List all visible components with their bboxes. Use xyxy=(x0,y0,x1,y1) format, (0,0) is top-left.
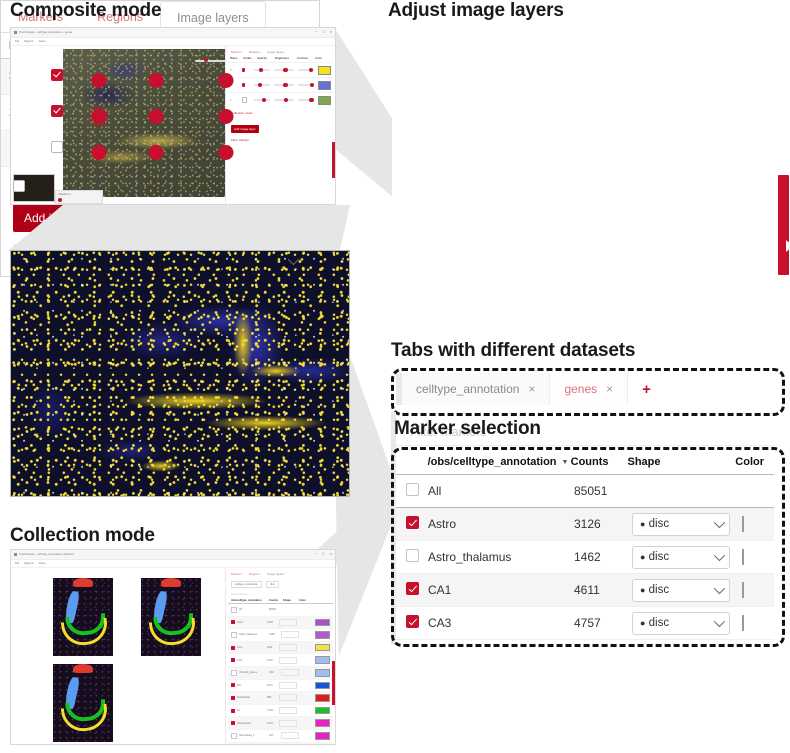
row-counts: 4611 xyxy=(574,583,632,597)
th-color: Color xyxy=(315,57,322,60)
row-shape-cell[interactable]: ● disc xyxy=(632,579,742,602)
row-counts: 986 xyxy=(267,696,279,699)
thumb-marker-size-slider[interactable] xyxy=(195,60,225,62)
color-swatch[interactable] xyxy=(315,656,330,664)
row-checkbox[interactable] xyxy=(231,607,237,613)
tile-red-region xyxy=(73,664,93,673)
col-color: Color xyxy=(735,456,764,468)
thumb-collection-mode-label[interactable]: Collection mode xyxy=(228,107,333,117)
table-row[interactable]: CA3 4757 ● disc xyxy=(396,607,774,640)
row-shape[interactable] xyxy=(279,720,297,727)
row-counts: 320 xyxy=(269,671,281,674)
panel-scrollbar[interactable] xyxy=(778,175,789,275)
row-counts: 1201 xyxy=(267,722,279,725)
table-row[interactable]: Astro 3126 ● disc xyxy=(396,508,774,541)
tile-yellow-region xyxy=(61,618,109,648)
collection-side-panel: Markers Regions Image layers celltype_an… xyxy=(225,568,335,745)
row-checkbox-cell[interactable] xyxy=(406,582,428,598)
add-tab-button[interactable]: + xyxy=(628,373,665,405)
shape-label: disc xyxy=(649,617,669,629)
dataset-tabs-strip: celltype_annotation × genes × + xyxy=(396,373,774,405)
close-icon[interactable]: × xyxy=(330,30,332,34)
row-checkbox[interactable] xyxy=(406,549,419,562)
row-shape[interactable] xyxy=(279,682,297,689)
row-name: CA1 xyxy=(428,583,574,597)
table-row[interactable]: DG5172 xyxy=(228,680,333,693)
tile-red-region xyxy=(161,578,181,587)
table-row[interactable]: All85051 xyxy=(228,604,333,617)
thumb-window-title: TissUUmaps - celltype_annotation collect… xyxy=(19,553,74,556)
collection-viewer-canvas[interactable] xyxy=(11,568,225,745)
table-row[interactable]: Astro_thalamus1462 xyxy=(228,629,333,642)
shape-label: disc xyxy=(649,551,669,563)
celltype-dropdown[interactable]: celltype_annotation xyxy=(231,581,262,588)
thumb-marker-size: Marker size: 100 xyxy=(195,52,225,62)
shape-dropdown[interactable]: disc xyxy=(266,581,279,588)
row-brightness-slider[interactable] xyxy=(274,69,294,70)
shape-value: ● disc xyxy=(640,518,669,530)
row-checkbox[interactable] xyxy=(231,709,235,713)
row-color-swatch[interactable] xyxy=(318,66,331,75)
chevron-down-icon[interactable] xyxy=(714,583,725,594)
app-icon xyxy=(14,31,17,34)
row-checkbox[interactable] xyxy=(231,670,237,676)
menu-file[interactable]: File xyxy=(15,562,19,565)
disc-icon: ● xyxy=(640,519,645,529)
collection-dropdown-row[interactable]: celltype_annotation disc xyxy=(228,579,333,590)
table-row[interactable]: All 85051 xyxy=(396,475,774,508)
row-checkbox-cell[interactable] xyxy=(406,483,428,499)
section-title-collection-mode: Collection mode xyxy=(10,525,155,547)
micro-white-dots xyxy=(11,251,349,496)
tab-markers[interactable]: Markers xyxy=(231,572,242,576)
row-shape[interactable] xyxy=(279,657,297,664)
row-brightness-slider[interactable] xyxy=(274,84,294,85)
table-row[interactable]: CA34757 xyxy=(228,654,333,667)
row-opacity-slider[interactable] xyxy=(254,69,270,70)
th-brightness: Brightness xyxy=(275,57,297,60)
table-row[interactable]: Astro3126 xyxy=(228,617,333,630)
row-checkbox-cell[interactable] xyxy=(406,549,428,565)
row-counts: 85051 xyxy=(269,608,281,611)
marker-table-header: /obs/celltype_annotation ▼ Counts Shape … xyxy=(396,450,774,475)
shape-value: ● disc xyxy=(640,551,669,563)
col-celltype-label: /obs/celltype_annotation xyxy=(428,456,557,468)
row-opacity-slider[interactable] xyxy=(254,99,270,100)
zoomed-microscopy-image[interactable] xyxy=(10,250,350,497)
row-color-cell[interactable] xyxy=(742,616,764,630)
row-brightness-slider[interactable] xyxy=(274,99,294,100)
color-swatch[interactable] xyxy=(315,631,330,639)
table-row[interactable]: CA1 4611 ● disc xyxy=(396,574,774,607)
thumb-window-title: TissUUmaps - celltype_annotation + genes xyxy=(19,31,72,34)
row-shape-cell[interactable]: ● disc xyxy=(632,612,742,635)
dataset-tab-genes[interactable]: genes × xyxy=(550,373,628,405)
thumb-title-bar: TissUUmaps - celltype_annotation collect… xyxy=(11,550,335,560)
thumb-channel-swatch[interactable] xyxy=(58,198,62,202)
table-row[interactable]: 1 xyxy=(228,92,333,107)
table-row[interactable]: Ex1716 xyxy=(228,705,333,718)
collection-tile-3[interactable] xyxy=(53,664,113,742)
collection-tile-1[interactable] xyxy=(53,578,113,656)
panel-collapse-arrow-icon[interactable] xyxy=(786,240,790,252)
row-checkbox-cell[interactable] xyxy=(406,516,428,532)
row-name: Neuroblast_1 xyxy=(239,734,269,737)
menu-about[interactable]: About xyxy=(39,562,46,565)
menu-regions[interactable]: Regions xyxy=(24,562,34,565)
table-row[interactable]: Astro_thalamus 1462 ● disc xyxy=(396,541,774,574)
shape-select[interactable]: ● disc xyxy=(632,612,730,635)
col-shape: Shape xyxy=(627,456,735,468)
row-checkbox-cell[interactable] xyxy=(406,615,428,631)
tab-image-layers[interactable]: Image layers xyxy=(267,572,284,576)
tile-yellow-region xyxy=(149,618,197,648)
table-row[interactable]: Choroid_plexus320 xyxy=(228,667,333,680)
disc-icon: ● xyxy=(640,618,645,628)
color-swatch[interactable] xyxy=(315,732,330,740)
collection-tile-2[interactable] xyxy=(141,578,201,656)
row-visible-checkbox[interactable] xyxy=(242,97,255,102)
row-checkbox[interactable] xyxy=(231,658,235,662)
thumb-tissue-image xyxy=(63,49,225,197)
micro-layer-stack xyxy=(11,251,349,496)
section-title-marker-selection: Marker selection xyxy=(394,418,541,440)
row-name: CA1 xyxy=(237,646,267,649)
row-checkbox[interactable] xyxy=(406,483,419,496)
close-icon[interactable]: × xyxy=(606,382,613,396)
collection-table-rows: All85051Astro3126Astro_thalamus1462CA146… xyxy=(228,604,333,745)
disc-icon: ● xyxy=(640,552,645,562)
dataset-tab-label: genes xyxy=(564,382,597,396)
menu-file[interactable]: File xyxy=(15,40,19,43)
dataset-tab-celltype-annotation[interactable]: celltype_annotation × xyxy=(402,373,550,405)
row-name: Astro xyxy=(428,517,574,531)
thumb-tab-markers[interactable]: Markers xyxy=(231,50,242,54)
disc-icon: ● xyxy=(640,585,645,595)
window-controls[interactable]: − □ × xyxy=(315,552,332,556)
row-visible-checkbox[interactable] xyxy=(242,83,255,86)
row-counts: 427 xyxy=(269,734,281,737)
row-name: 3 xyxy=(230,69,242,72)
thumb-side-panel: Markers Regions Image layers Name Visibl… xyxy=(225,46,335,205)
maximize-icon[interactable]: □ xyxy=(322,30,324,34)
row-counts: 85051 xyxy=(574,484,632,498)
thumb-channel-label: Channel 1 xyxy=(58,192,71,196)
tab-regions[interactable]: Regions xyxy=(249,572,260,576)
row-counts: 3126 xyxy=(267,621,279,624)
visible-checkbox[interactable] xyxy=(51,141,63,153)
row-counts: 3126 xyxy=(574,517,632,531)
marker-selection-panel: Filter markers /obs/celltype_annotation … xyxy=(391,412,779,644)
row-name: 1 xyxy=(230,99,242,102)
row-counts: 1462 xyxy=(269,633,281,636)
table-row[interactable]: Oligodendro1201 xyxy=(228,717,333,730)
table-row[interactable]: 2 xyxy=(228,77,333,92)
row-name: All xyxy=(239,608,269,611)
chevron-down-icon[interactable] xyxy=(714,550,725,561)
shape-label: disc xyxy=(649,518,669,530)
row-checkbox[interactable] xyxy=(406,615,419,628)
marker-table: /obs/celltype_annotation ▼ Counts Shape … xyxy=(396,450,774,640)
shape-select[interactable]: ● disc xyxy=(632,513,730,536)
row-contrast-slider[interactable] xyxy=(298,84,314,85)
tile-yellow-region xyxy=(61,704,109,734)
row-name: Astro xyxy=(237,621,267,624)
shape-value: ● disc xyxy=(640,617,669,629)
color-swatch[interactable] xyxy=(315,694,330,702)
minimize-icon[interactable]: − xyxy=(315,552,317,556)
row-opacity-slider[interactable] xyxy=(254,84,270,85)
row-shape[interactable] xyxy=(281,631,299,638)
row-shape[interactable] xyxy=(279,707,297,714)
visible-checkbox[interactable] xyxy=(51,105,63,117)
row-shape[interactable] xyxy=(279,619,297,626)
col-color: Color xyxy=(299,599,306,602)
row-name: Endothelial xyxy=(237,696,267,699)
row-shape xyxy=(281,607,297,612)
thumb-scrollbar[interactable] xyxy=(332,142,335,178)
thumb-tab-image-layers[interactable]: Image layers xyxy=(267,50,284,54)
chevron-down-icon[interactable] xyxy=(714,517,725,528)
section-title-adjust-image-layers: Adjust image layers xyxy=(388,0,564,22)
row-name: Astro_thalamus xyxy=(428,550,574,564)
row-visible-checkbox[interactable] xyxy=(242,68,255,71)
window-controls[interactable]: − □ × xyxy=(315,30,332,34)
row-color-cell[interactable] xyxy=(742,517,764,531)
row-name: All xyxy=(428,484,574,498)
thumb-filter-settings[interactable]: Filter settings xyxy=(228,135,333,145)
row-shape[interactable] xyxy=(279,644,297,651)
color-swatch[interactable] xyxy=(742,549,744,565)
col-celltype: /obs/celltype_annotation xyxy=(231,599,269,602)
row-name: Astro_thalamus xyxy=(239,633,269,636)
row-counts: 1716 xyxy=(267,709,279,712)
thumb-menu-bar[interactable]: File Regions About xyxy=(11,38,335,46)
col-celltype[interactable]: /obs/celltype_annotation ▼ xyxy=(428,456,571,468)
row-checkbox[interactable] xyxy=(231,646,235,650)
thumb-channel-box[interactable]: Channel 1 xyxy=(55,190,103,204)
row-color-swatch[interactable] xyxy=(318,96,331,105)
col-counts: Counts xyxy=(269,599,283,602)
color-swatch[interactable] xyxy=(315,719,330,727)
shape-select[interactable]: ● disc xyxy=(632,579,730,602)
row-counts: 4757 xyxy=(267,659,279,662)
row-contrast-slider[interactable] xyxy=(298,99,314,100)
row-counts: 5172 xyxy=(267,684,279,687)
row-name: Oligodendro xyxy=(237,722,267,725)
collection-filter-input[interactable]: Filter markers xyxy=(228,590,333,598)
col-shape: Shape xyxy=(283,599,299,602)
color-swatch[interactable] xyxy=(315,619,330,627)
color-swatch[interactable] xyxy=(315,682,330,690)
row-contrast-slider[interactable] xyxy=(298,69,314,70)
row-shape-cell[interactable]: ● disc xyxy=(632,513,742,536)
thumb-add-image-layer-button[interactable]: Add image layer xyxy=(231,125,259,133)
thumb-title-bar: TissUUmaps - celltype_annotation + genes… xyxy=(11,28,335,38)
color-swatch[interactable] xyxy=(315,669,330,677)
row-checkbox[interactable] xyxy=(231,632,237,638)
minimize-icon[interactable]: − xyxy=(315,30,317,34)
table-row[interactable]: Endothelial986 xyxy=(228,692,333,705)
th-contrast: Contrast xyxy=(297,57,315,60)
row-shape[interactable] xyxy=(281,732,299,739)
table-row[interactable]: Neuroblast_1427 xyxy=(228,730,333,743)
row-color-cell[interactable] xyxy=(742,550,764,564)
sort-caret-icon[interactable]: ▼ xyxy=(562,459,569,466)
color-swatch[interactable] xyxy=(315,707,330,715)
thumb-tab-regions[interactable]: Regions xyxy=(249,50,260,54)
row-shape[interactable] xyxy=(281,669,299,676)
row-shape[interactable] xyxy=(279,694,297,701)
table-row[interactable]: 3 xyxy=(228,62,333,77)
row-shape-cell[interactable]: ● disc xyxy=(632,546,742,569)
maximize-icon[interactable]: □ xyxy=(322,552,324,556)
color-swatch[interactable] xyxy=(315,644,330,652)
th-name: Name xyxy=(230,57,243,60)
color-swatch[interactable] xyxy=(742,516,744,532)
th-visible: Visible xyxy=(243,57,257,60)
menu-about[interactable]: About xyxy=(39,40,46,43)
row-name: Choroid_plexus xyxy=(239,671,269,674)
collection-mode-checkbox[interactable] xyxy=(13,180,25,192)
chevron-down-icon[interactable] xyxy=(714,616,725,627)
col-counts[interactable]: Counts xyxy=(571,456,628,468)
row-checkbox[interactable] xyxy=(231,733,237,739)
shape-label: disc xyxy=(649,584,669,596)
row-checkbox[interactable] xyxy=(231,620,235,624)
menu-regions[interactable]: Regions xyxy=(24,40,34,43)
thumb-marker-size-label: Marker size: 100 xyxy=(210,52,225,56)
table-row[interactable]: Interneuron_Pvalb688 xyxy=(228,743,333,745)
color-swatch[interactable] xyxy=(742,615,744,631)
row-color-swatch[interactable] xyxy=(318,81,331,90)
app-icon xyxy=(14,553,17,556)
row-name: CA3 xyxy=(428,616,574,630)
close-icon[interactable]: × xyxy=(528,382,535,396)
row-color-cell[interactable] xyxy=(742,583,764,597)
collection-mode-screenshot: TissUUmaps - celltype_annotation collect… xyxy=(10,549,336,745)
thumb-panel-tabs[interactable]: Markers Regions Image layers xyxy=(228,49,333,57)
th-opacity: Opacity xyxy=(257,57,275,60)
color-swatch[interactable] xyxy=(742,582,744,598)
thumb-viewer-canvas[interactable]: Channel 1 Marker size: 100 xyxy=(11,46,225,205)
shape-select[interactable]: ● disc xyxy=(632,546,730,569)
row-checkbox[interactable] xyxy=(406,516,419,529)
close-icon[interactable]: × xyxy=(330,552,332,556)
row-counts: 1462 xyxy=(574,550,632,564)
row-name: Ex xyxy=(237,709,267,712)
dataset-tab-label: celltype_annotation xyxy=(416,382,519,396)
section-title-composite-mode: Composite mode xyxy=(10,0,161,22)
table-row[interactable]: CA14611 xyxy=(228,642,333,655)
section-title-tabs-datasets: Tabs with different datasets xyxy=(391,340,635,362)
row-name: DG xyxy=(237,684,267,687)
tile-red-region xyxy=(73,578,93,587)
row-checkbox[interactable] xyxy=(231,696,235,700)
row-checkbox[interactable] xyxy=(406,582,419,595)
collection-scrollbar[interactable] xyxy=(332,661,335,705)
thumb-menu-bar[interactable]: File Regions About xyxy=(11,560,335,568)
collection-panel-tabs[interactable]: Markers Regions Image layers xyxy=(228,571,333,579)
connector-composite-to-zoom xyxy=(8,205,350,251)
row-counts: 4757 xyxy=(574,616,632,630)
visible-checkbox[interactable] xyxy=(51,69,63,81)
row-checkbox[interactable] xyxy=(231,683,235,687)
row-name: CA3 xyxy=(237,659,267,662)
row-checkbox[interactable] xyxy=(231,721,235,725)
row-counts: 4611 xyxy=(267,646,279,649)
shape-value: ● disc xyxy=(640,584,669,596)
